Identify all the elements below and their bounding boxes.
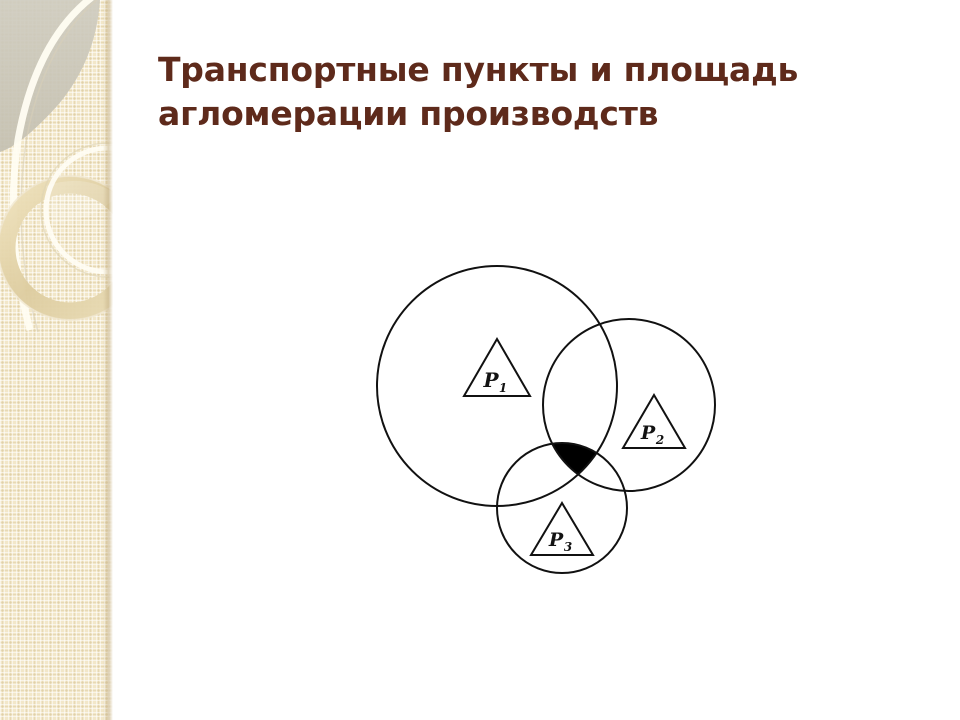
triangle-2-subscript: 2 — [655, 433, 664, 447]
decorative-sidebar — [0, 0, 113, 720]
triangle-3-subscript: 3 — [564, 540, 572, 554]
venn-diagram: P 1 P 2 P 3 — [350, 245, 740, 595]
page-title: Транспортные пункты и площадь агломераци… — [158, 48, 898, 136]
triangle-1-subscript: 1 — [499, 381, 507, 395]
slide-canvas: Транспортные пункты и площадь агломераци… — [0, 0, 960, 720]
page-title-line-1: Транспортные пункты и площадь — [158, 48, 898, 92]
triangle-3-label: P — [548, 529, 564, 551]
page-title-line-2: агломерации производств — [158, 92, 898, 136]
sidebar-gray-wedge — [0, 0, 100, 152]
sidebar-ornament-group — [0, 0, 113, 720]
sidebar-right-edge — [103, 0, 113, 720]
triangle-1-label: P — [482, 368, 499, 392]
venn-diagram-svg: P 1 P 2 P 3 — [350, 245, 740, 595]
triangle-2-label: P — [640, 422, 656, 444]
